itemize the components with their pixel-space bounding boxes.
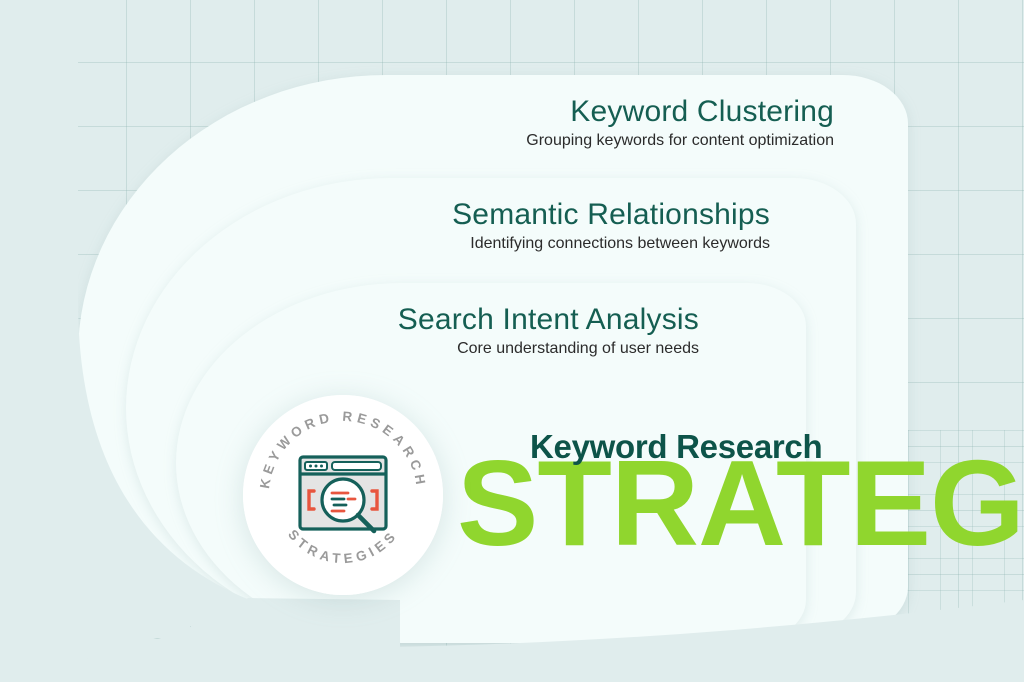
tier-title: Keyword Clustering (526, 95, 834, 129)
tier-row-keyword-clustering: Keyword Clustering Grouping keywords for… (526, 95, 834, 150)
tier-subtitle: Core understanding of user needs (398, 340, 699, 358)
circular-badge: KEYWORD RESEARCH STRATEGIES (243, 395, 443, 595)
tier-subtitle: Grouping keywords for content optimizati… (526, 132, 834, 150)
infographic-canvas: Keyword Clustering Grouping keywords for… (0, 0, 1024, 682)
tier-title: Semantic Relationships (452, 198, 770, 232)
tier-subtitle: Identifying connections between keywords (452, 235, 770, 253)
headline-main: STRATEGIES (457, 452, 1024, 554)
headline-block: STRATEGIES Keyword Research (457, 428, 977, 568)
browser-search-magnifier-icon (300, 457, 386, 531)
headline-eyebrow: Keyword Research (530, 428, 822, 466)
tier-title: Search Intent Analysis (398, 303, 699, 337)
tier-row-semantic-relationships: Semantic Relationships Identifying conne… (452, 198, 770, 253)
tier-row-search-intent-analysis: Search Intent Analysis Core understandin… (398, 303, 699, 358)
